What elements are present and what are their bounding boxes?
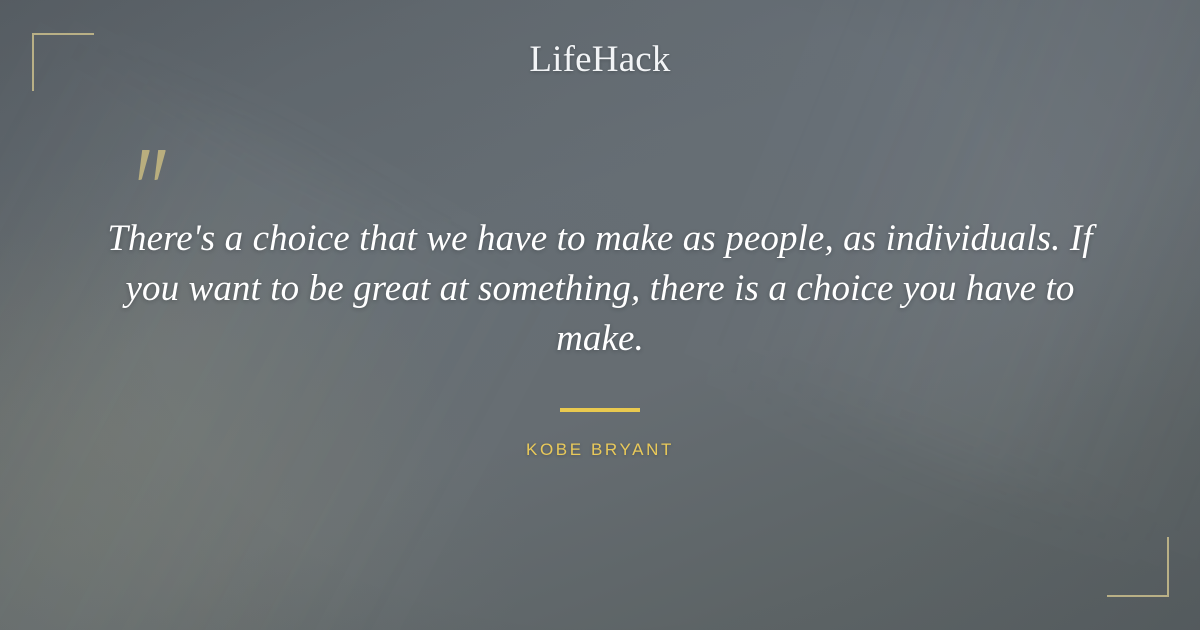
corner-bracket-bottom-right-horizontal bbox=[1107, 595, 1169, 597]
double-quote-stroke-left bbox=[135, 150, 150, 180]
quote-card: LifeHack There's a choice that we have t… bbox=[0, 0, 1200, 630]
corner-bracket-bottom-right-icon bbox=[1107, 537, 1169, 597]
double-quote-icon bbox=[136, 146, 176, 188]
divider bbox=[560, 408, 640, 412]
quote-text: There's a choice that we have to make as… bbox=[100, 214, 1100, 364]
corner-bracket-bottom-right-vertical bbox=[1167, 537, 1169, 597]
corner-bracket-top-left-horizontal bbox=[32, 33, 94, 35]
double-quote-stroke-right bbox=[151, 150, 166, 180]
quote-author: KOBE BRYANT bbox=[0, 440, 1200, 460]
brand-logo[interactable]: LifeHack bbox=[0, 41, 1200, 78]
